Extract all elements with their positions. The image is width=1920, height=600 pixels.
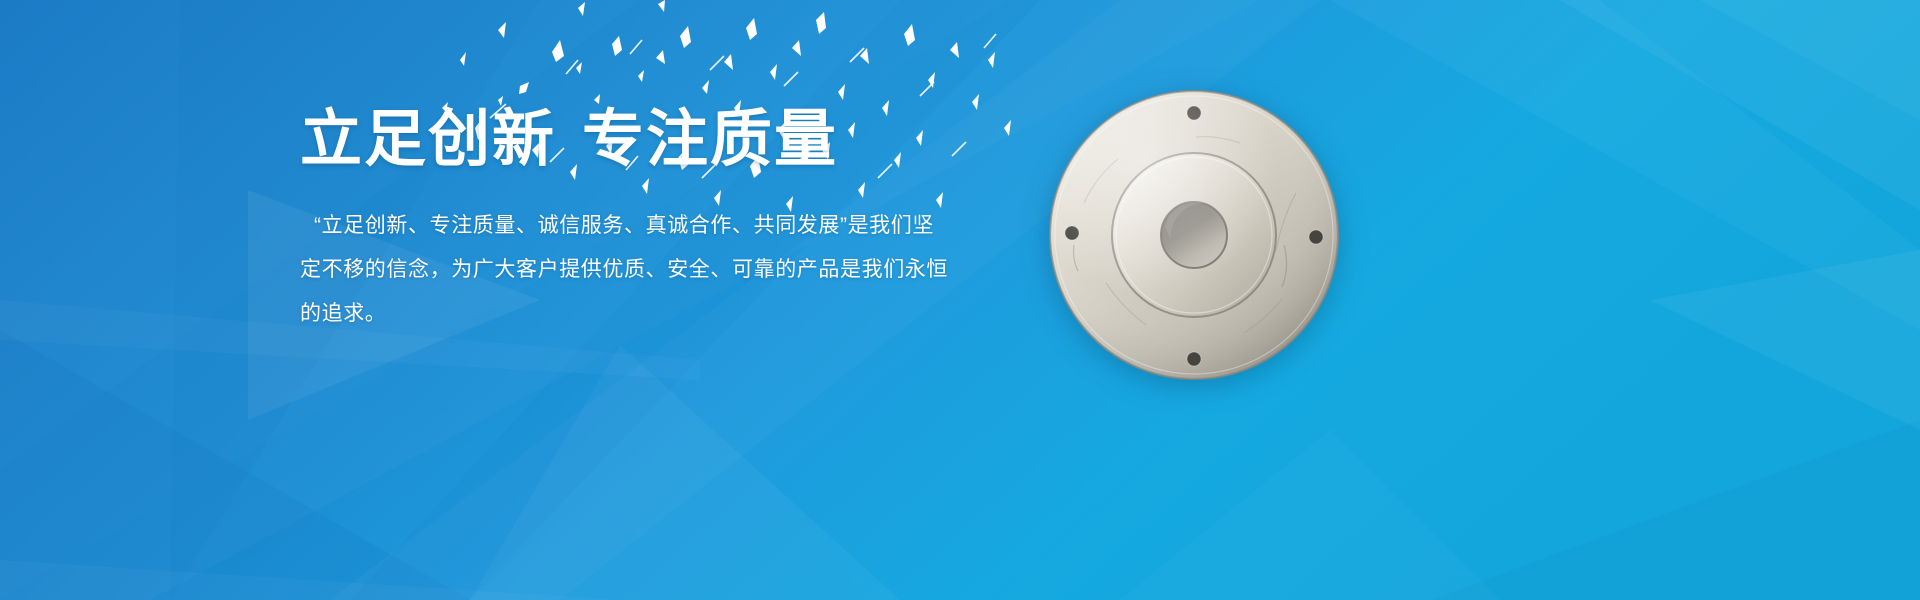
product-image-flange — [1044, 85, 1344, 385]
headline-part-2: 专注质量 — [582, 105, 838, 174]
paragraph-line-3: 的追求。 — [300, 292, 960, 336]
hero-banner: 立足创新专注质量 “立足创新、专注质量、诚信服务、真诚合作、共同发展”是我们坚 … — [0, 0, 1920, 600]
headline-part-1: 立足创新 — [300, 105, 556, 174]
banner-copy: 立足创新专注质量 “立足创新、专注质量、诚信服务、真诚合作、共同发展”是我们坚 … — [300, 104, 960, 336]
flange-illustration — [1044, 85, 1344, 385]
banner-headline: 立足创新专注质量 — [300, 104, 960, 176]
banner-paragraph: “立足创新、专注质量、诚信服务、真诚合作、共同发展”是我们坚 定不移的信念，为广… — [300, 204, 960, 336]
paragraph-line-2: 定不移的信念，为广大客户提供优质、安全、可靠的产品是我们永恒 — [300, 248, 960, 292]
paragraph-line-1: “立足创新、专注质量、诚信服务、真诚合作、共同发展”是我们坚 — [300, 204, 960, 248]
